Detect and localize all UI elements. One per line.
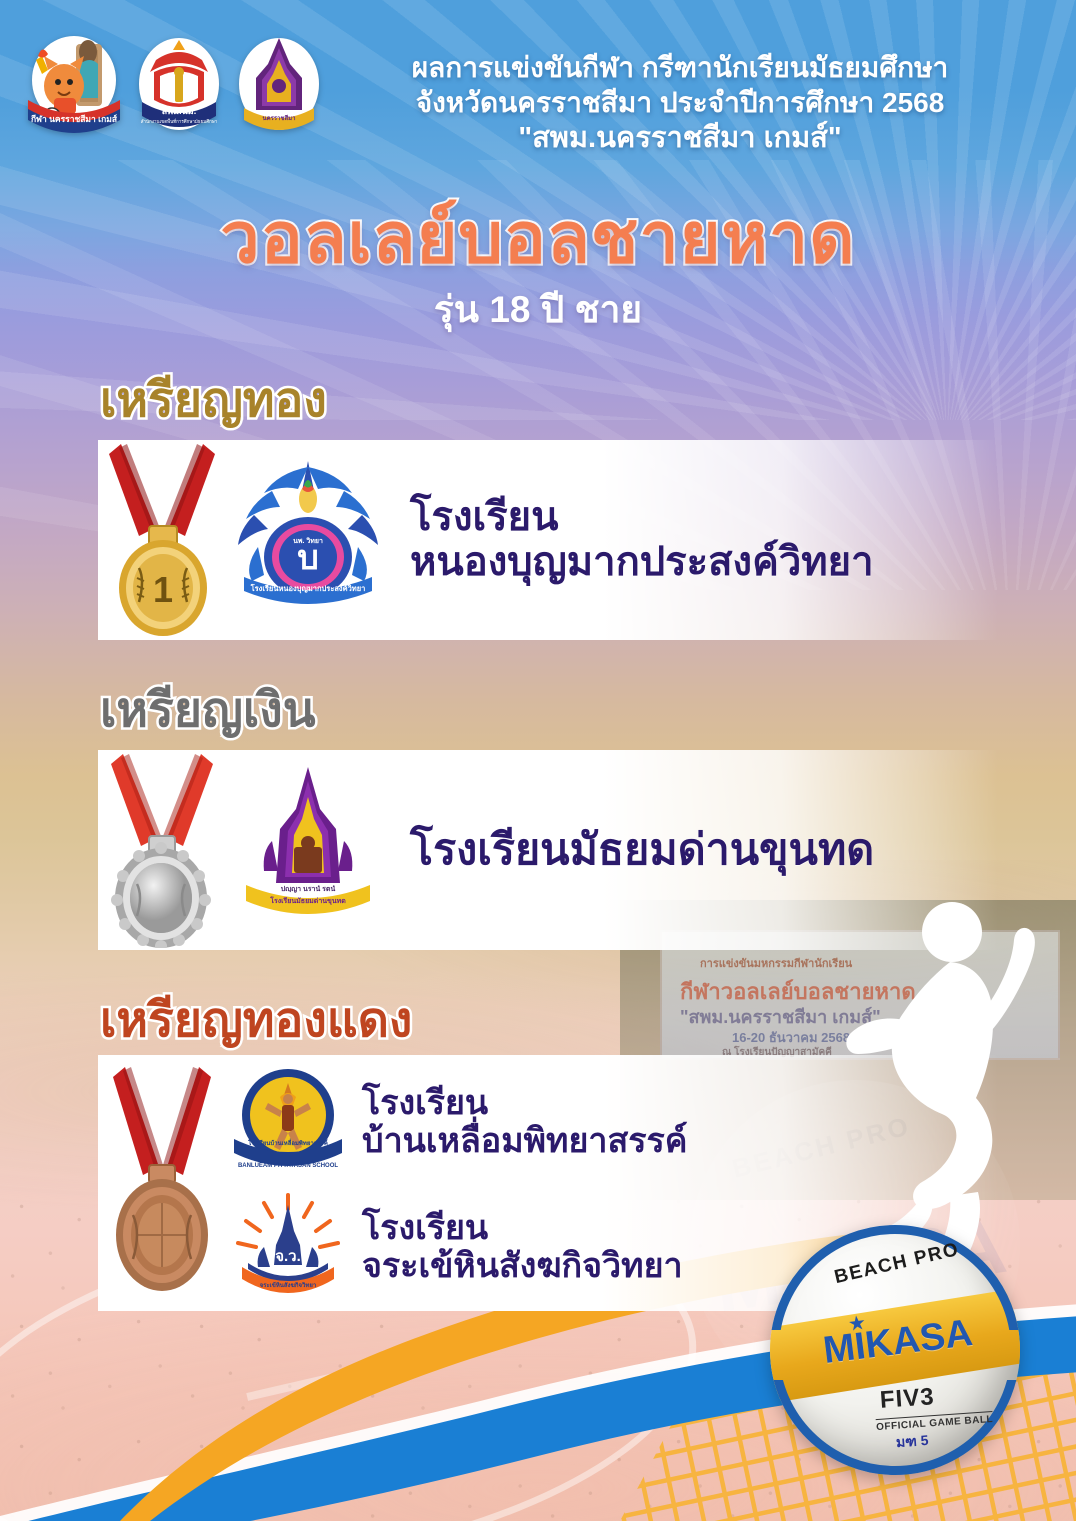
gold-medal-card: 1 บ นพ. วิทยา โรงเรีย (98, 440, 998, 640)
silver-medal-icon (103, 752, 223, 948)
bg-banner-line1: การแข่งขันมหกรรมกีฬานักเรียน (700, 954, 852, 972)
bronze-winner-2-name: โรงเรียน จระเข้หินสังฆกิจวิทยา (362, 1209, 683, 1285)
gold-winner-name: โรงเรียน หนองบุญมากประสงค์วิทยา (410, 495, 874, 585)
svg-text:โรงเรียนมัธยมด่านขุนทด: โรงเรียนมัธยมด่านขุนทด (269, 896, 346, 905)
korat-games-mascot-logo: กีฬา นครราชสีมา เกมส์ (24, 30, 124, 140)
header-line-2: จังหวัดนครราชสีมา ประจำปีการศึกษา 2568 (330, 85, 1030, 120)
silver-medal-slot (98, 752, 228, 948)
svg-text:จ.ว.: จ.ว. (275, 1248, 301, 1265)
nongboonmak-prasongwittaya-logo: บ นพ. วิทยา โรงเรียนหนองบุญมากประสงค์วิท… (228, 453, 388, 628)
bg-banner-line4: 16-20 ธันวาคม 2568 (732, 1027, 850, 1048)
bronze-winner-1-name: โรงเรียน บ้านเหลื่อมพิทยาสรรค์ (362, 1084, 687, 1160)
svg-text:นพ. วิทยา: นพ. วิทยา (293, 537, 323, 545)
gold-medal-slot: 1 (98, 442, 228, 638)
silver-medal-heading: เหรียญเงิน (100, 672, 316, 748)
bronze-winner-2-prefix: โรงเรียน (362, 1209, 683, 1247)
jorakhehin-sangkhakitwittaya-logo: จ.ว. จระเข้หินสังฆกิจวิทยา (228, 1191, 348, 1303)
bronze-medal-heading: เหรียญทองแดง (100, 982, 412, 1058)
svg-text:กีฬา นครราชสีมา เกมส์: กีฬา นครราชสีมา เกมส์ (31, 114, 118, 124)
header-title-block: ผลการแข่งขันกีฬา กรีฑานักเรียนมัธยมศึกษา… (330, 50, 1030, 156)
page-title: วอลเลย์บอลชายหาด (0, 182, 1076, 293)
division-subtitle: รุ่น 18 ปี ชาย (0, 280, 1076, 339)
gold-medal-icon: 1 (103, 442, 223, 638)
volleyball-marking-text: มฑ 5 (895, 1430, 929, 1454)
bronze-winner-row-2: จ.ว. จระเข้หินสังฆกิจวิทยา โรงเรียน จระเ… (228, 1191, 687, 1303)
bg-banner-line2: กีฬาวอลเลย์บอลชายหาด (680, 974, 916, 1009)
banlueam-pittayasan-school-logo: โรงเรียนบ้านเหลื่อมพิทยาสรรค์ BANLUEAM P… (228, 1063, 348, 1181)
svg-text:สำนักงานเขตพื้นที่การศึกษามัธย: สำนักงานเขตพื้นที่การศึกษามัธยมศึกษา (141, 118, 218, 124)
silver-winner-name: โรงเรียนมัธยมด่านขุนทด (410, 826, 874, 874)
bronze-winner-list: โรงเรียนบ้านเหลื่อมพิทยาสรรค์ BANLUEAM P… (228, 1063, 687, 1303)
province-emblem-logo: นครราชสีมา (234, 30, 324, 140)
header-line-1: ผลการแข่งขันกีฬา กรีฑานักเรียนมัธยมศึกษา (330, 50, 1030, 85)
bronze-winner-1-school: บ้านเหลื่อมพิทยาสรรค์ (362, 1122, 687, 1160)
mathayom-dankhunthot-logo: ปญฺญา นรานํ รตนํ โรงเรียนมัธยมด่านขุนทด (228, 763, 388, 938)
bg-banner-line3: "สพม.นครราชสีมา เกมส์" (680, 1002, 881, 1031)
svg-text:จระเข้หินสังฆกิจวิทยา: จระเข้หินสังฆกิจวิทยา (260, 1281, 317, 1289)
silver-logo-motto: ปญฺญา นรานํ รตนํ (281, 885, 336, 893)
bronze-winner-2-school: จระเข้หินสังฆกิจวิทยา (362, 1247, 683, 1285)
gold-winner-prefix: โรงเรียน (410, 495, 874, 540)
svg-text:สพม.นม.: สพม.นม. (162, 106, 196, 116)
banlueam-logo-caption: BANLUEAM PITTAYASAN SCHOOL (238, 1163, 338, 1169)
gold-medal-heading: เหรียญทอง (100, 362, 327, 438)
silver-winner-school: โรงเรียนมัธยมด่านขุนทด (410, 826, 874, 874)
svg-text:นครราชสีมา: นครราชสีมา (263, 114, 296, 122)
bronze-medal-icon (103, 1063, 223, 1303)
bronze-winner-1-prefix: โรงเรียน (362, 1084, 687, 1122)
bronze-winner-row-1: โรงเรียนบ้านเหลื่อมพิทยาสรรค์ BANLUEAM P… (228, 1063, 687, 1181)
svg-text:โรงเรียนหนองบุญมากประสงค์วิทยา: โรงเรียนหนองบุญมากประสงค์วิทยา (250, 583, 366, 593)
volleyball-federation-text: FIV3 (879, 1383, 936, 1415)
spm-nm-logo: สพม.นม. สำนักงานเขตพื้นที่การศึกษามัธยมศ… (134, 30, 224, 140)
gold-medal-number: 1 (153, 569, 173, 610)
poster-root: การแข่งขันมหกรรมกีฬานักเรียน กีฬาวอลเลย์… (0, 0, 1076, 1521)
header-line-3: "สพม.นครราชสีมา เกมส์" (330, 120, 1030, 156)
silver-medal-card: ปญฺญา นรานํ รตนํ โรงเรียนมัธยมด่านขุนทด … (98, 750, 998, 950)
bronze-medal-slot (98, 1063, 228, 1303)
gold-winner-school: หนองบุญมากประสงค์วิทยา (410, 540, 874, 585)
header-logo-group: กีฬา นครราชสีมา เกมส์ สพม.นม. สำนักงานเข… (24, 30, 324, 140)
poster-header: กีฬา นครราชสีมา เกมส์ สพม.นม. สำนักงานเข… (0, 0, 1076, 172)
mikasa-beach-pro-volleyball: BEACH PRO ★ MIKASA FIV3 OFFICIAL GAME BA… (770, 1225, 1020, 1475)
